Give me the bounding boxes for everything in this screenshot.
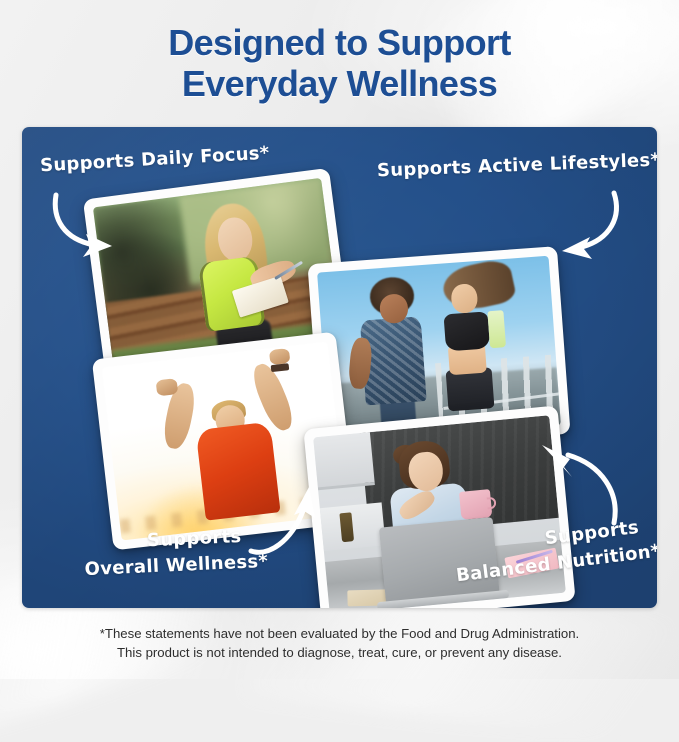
infographic-page: Designed to Support Everyday Wellness Su…: [0, 0, 679, 679]
page-title-line-1: Designed to Support: [168, 22, 511, 63]
fda-disclaimer: *These statements have not been evaluate…: [0, 624, 679, 662]
page-title: Designed to Support Everyday Wellness: [0, 22, 679, 104]
disclaimer-line-2: This product is not intended to diagnose…: [0, 643, 679, 662]
benefit-label-overall-wellness: Supports Overall Wellness*: [83, 523, 269, 583]
benefit-label-daily-focus: Supports Daily Focus*: [39, 141, 270, 180]
disclaimer-line-1: *These statements have not been evaluate…: [100, 626, 579, 641]
benefits-panel: Supports Daily Focus* Supports Active Li…: [22, 127, 657, 608]
benefit-label-text: Supports Active Lifestyles*: [377, 150, 657, 182]
curved-arrow-icon: [50, 189, 140, 274]
curved-arrow-icon: [538, 189, 628, 274]
benefit-label-text-line-2: Overall Wellness*: [84, 549, 269, 583]
benefit-label-active-lifestyles: Supports Active Lifestyles*: [377, 148, 657, 185]
page-title-line-2: Everyday Wellness: [0, 63, 679, 104]
benefit-label-text: Supports Daily Focus*: [40, 143, 270, 177]
